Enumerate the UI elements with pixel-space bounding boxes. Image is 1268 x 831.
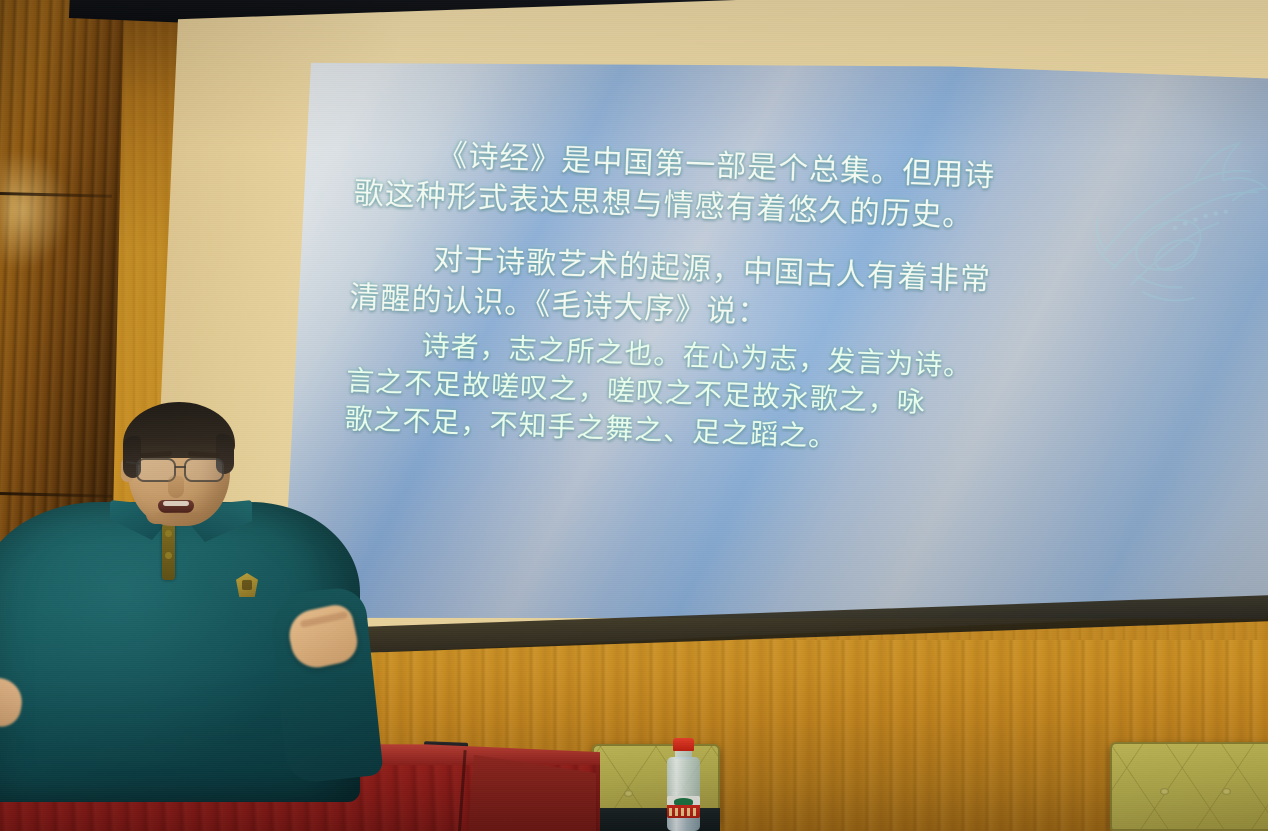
chair-tuft-button	[1160, 788, 1169, 795]
chair-tuft-button	[624, 790, 633, 797]
chair-tuft-button	[1222, 788, 1231, 795]
slide-text-body: 《诗经》是中国第一部是个总集。但用诗 歌这种形式表达思想与情感有着悠久的历史。 …	[344, 132, 1236, 477]
eyeglasses-lens-right-icon	[184, 458, 224, 482]
shield-emblem-inner-icon	[242, 580, 252, 590]
eyeglasses-bridge-icon	[175, 466, 186, 468]
water-bottle	[664, 738, 702, 831]
projected-slide: 《诗经》是中国第一部是个总集。但用诗 歌这种形式表达思想与情感有着悠久的历史。 …	[275, 42, 1268, 679]
presenter-chin-shading	[152, 512, 204, 524]
presenter-teeth	[163, 501, 189, 506]
bottle-label-logo-icon	[674, 798, 693, 805]
bottle-cap	[673, 738, 694, 751]
chair-tufting-pattern	[1112, 744, 1268, 829]
bottle-label	[667, 796, 700, 818]
presenter	[0, 400, 420, 831]
polo-button	[165, 530, 172, 537]
wood-highlight-sheen	[0, 150, 70, 270]
bottle-body	[667, 757, 700, 831]
bottle-label-text-block	[669, 808, 698, 816]
polo-button	[165, 552, 172, 559]
lecture-photo-scene: 《诗经》是中国第一部是个总集。但用诗 歌这种形式表达思想与情感有着悠久的历史。 …	[0, 0, 1268, 831]
bottle-neck	[675, 750, 692, 759]
presenter-nose	[168, 476, 184, 498]
tufted-chair-right	[1110, 742, 1268, 831]
